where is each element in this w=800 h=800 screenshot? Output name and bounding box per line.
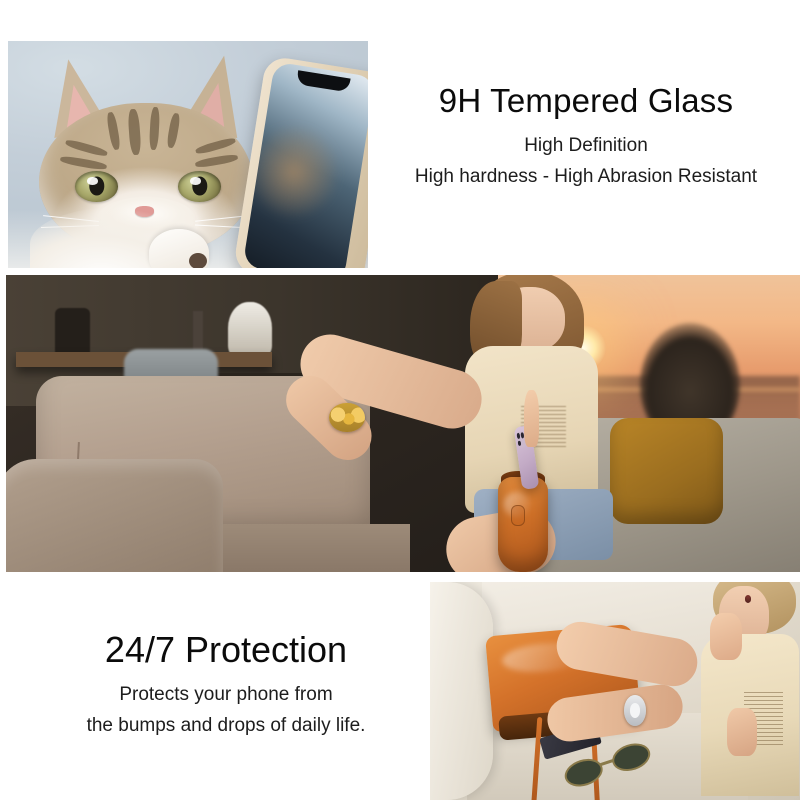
banner-canvas: 9H Tempered Glass High Definition High h… <box>0 0 800 800</box>
camera-lens <box>518 440 522 446</box>
fur-stripe <box>64 138 107 157</box>
paw-pad <box>189 253 207 268</box>
woman-figure <box>403 275 641 572</box>
fur-stripe <box>195 154 239 169</box>
sofa-armrest <box>430 582 493 800</box>
bag-dropping-photo <box>430 582 800 800</box>
vase <box>55 308 89 356</box>
protection-line-1: Protects your phone from <box>46 684 406 706</box>
wristwatch <box>624 695 646 726</box>
fur-stripe <box>127 108 141 154</box>
gold-chain-bracelet <box>329 403 365 433</box>
headline-subtitle-1: High Definition <box>380 135 792 157</box>
orange-handbag <box>498 477 548 572</box>
woman-bag-sofa-photo <box>6 275 800 572</box>
bag-front-tab <box>511 505 525 526</box>
bag-body <box>498 477 548 572</box>
fur-stripe <box>60 155 108 171</box>
phone-notch <box>296 70 351 93</box>
headline-text-block: 9H Tempered Glass High Definition High h… <box>380 82 792 188</box>
kitten-left-eye <box>75 171 118 202</box>
fur-stripe <box>195 137 236 156</box>
kitten-figure <box>30 55 260 268</box>
woman-hand-bottom <box>727 708 757 756</box>
protection-line-2: the bumps and drops of daily life. <box>46 715 406 737</box>
fur-stripe <box>167 113 182 149</box>
sofa-armrest <box>6 459 223 572</box>
woman-hand <box>524 390 539 447</box>
woman-figure <box>659 582 800 800</box>
headline-subtitle-2: High hardness - High Abrasion Resistant <box>380 166 792 188</box>
headline-title: 9H Tempered Glass <box>380 82 792 121</box>
protection-text-block: 24/7 Protection Protects your phone from… <box>46 630 406 737</box>
kitten-phone-photo <box>8 41 368 268</box>
kitten-right-eye <box>178 171 221 202</box>
woman-hand-top <box>710 613 743 661</box>
fur-stripe <box>106 111 121 150</box>
fur-stripe <box>149 107 160 150</box>
open-mouth <box>745 595 752 603</box>
protection-title: 24/7 Protection <box>46 630 406 670</box>
table-lamp <box>228 302 272 358</box>
